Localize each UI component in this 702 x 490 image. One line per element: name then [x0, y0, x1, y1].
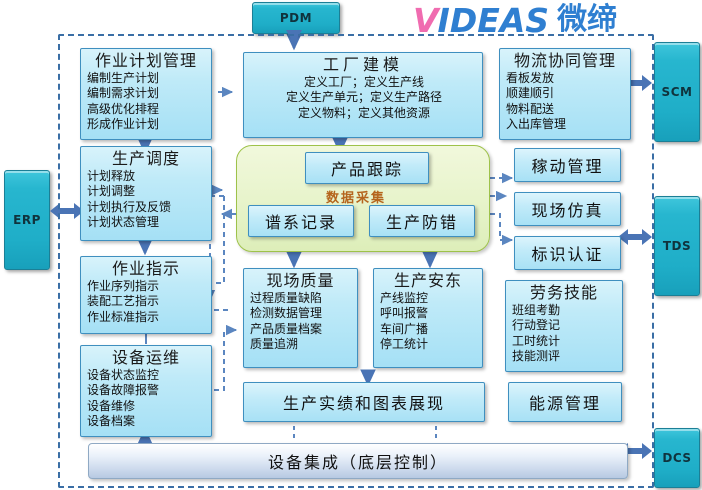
- module-site-quality-title: 现场质量: [248, 271, 353, 291]
- external-system-dcs-label: DCS: [662, 451, 691, 465]
- list-item: 看板发放: [506, 71, 626, 86]
- module-labor-skill-title: 劳务技能: [510, 283, 618, 303]
- module-work-instruction-items: 作业序列指示 装配工艺指示 作业标准指示: [85, 279, 207, 325]
- list-item: 计划释放: [87, 169, 207, 184]
- module-andon-title: 生产安东: [378, 271, 478, 291]
- module-utilization-management[interactable]: 稼动管理: [514, 148, 621, 182]
- equipment-integration-bar[interactable]: 设备集成（底层控制）: [88, 443, 628, 479]
- module-site-quality-items: 过程质量缺陷 检测数据管理 产品质量档案 质量追溯: [248, 291, 353, 352]
- external-system-dcs[interactable]: DCS: [654, 428, 700, 488]
- list-item: 车间广播: [380, 322, 478, 337]
- module-plan-management-items: 编制生产计划 编制需求计划 高级优化排程 形成作业计划: [85, 71, 207, 132]
- list-item: 作业序列指示: [87, 279, 207, 294]
- logo-chinese-name: 微缔: [557, 5, 617, 35]
- module-error-proofing[interactable]: 生产防错: [369, 205, 475, 237]
- module-performance-charts[interactable]: 生产实绩和图表展现: [243, 382, 485, 422]
- external-system-scm[interactable]: SCM: [654, 42, 700, 142]
- module-utilization-management-label: 稼动管理: [531, 153, 603, 177]
- module-production-scheduling-title: 生产调度: [85, 149, 207, 169]
- module-factory-modeling-title: 工厂建模: [248, 55, 478, 75]
- equipment-integration-label: 设备集成（底层控制）: [268, 449, 448, 473]
- list-item: 物料配送: [506, 102, 626, 117]
- external-system-tds-label: TDS: [663, 239, 691, 253]
- module-equipment-maintenance[interactable]: 设备运维 设备状态监控 设备故障报警 设备维修 设备档案: [80, 345, 212, 437]
- module-work-instruction-title: 作业指示: [85, 259, 207, 279]
- list-item: 编制需求计划: [87, 86, 207, 101]
- module-genealogy-record-label: 谱系记录: [265, 209, 337, 233]
- module-energy-management-label: 能源管理: [529, 390, 601, 414]
- list-item: 产品质量档案: [250, 322, 353, 337]
- module-logistics-collaboration-items: 看板发放 顺建顺引 物料配送 入出库管理: [504, 71, 626, 132]
- module-work-instruction[interactable]: 作业指示 作业序列指示 装配工艺指示 作业标准指示: [80, 256, 212, 334]
- module-equipment-maintenance-title: 设备运维: [85, 348, 207, 368]
- external-system-tds[interactable]: TDS: [654, 196, 700, 296]
- module-identification-authentication-label: 标识认证: [531, 241, 603, 265]
- list-item: 设备故障报警: [87, 383, 207, 398]
- list-item: 定义工厂；定义生产线: [250, 75, 478, 90]
- list-item: 高级优化排程: [87, 102, 207, 117]
- diagram-canvas: V IDEAS 微缔 PDM ERP SCM TDS DCS: [0, 0, 702, 490]
- module-andon[interactable]: 生产安东 产线监控 呼叫报警 车间广播 停工统计: [373, 268, 483, 368]
- list-item: 产线监控: [380, 291, 478, 306]
- list-item: 过程质量缺陷: [250, 291, 353, 306]
- list-item: 定义生产单元；定义生产路径: [250, 90, 478, 105]
- list-item: 作业标准指示: [87, 310, 207, 325]
- module-labor-skill-items: 班组考勤 行动登记 工时统计 技能测评: [510, 303, 618, 364]
- module-performance-charts-label: 生产实绩和图表展现: [283, 390, 445, 414]
- module-logistics-collaboration-title: 物流协同管理: [504, 51, 626, 71]
- logo-v-mark: V: [413, 4, 438, 37]
- list-item: 计划状态管理: [87, 215, 207, 230]
- data-collection-label: 数据采集: [326, 187, 386, 206]
- module-product-tracking[interactable]: 产品跟踪: [305, 152, 429, 184]
- module-andon-items: 产线监控 呼叫报警 车间广播 停工统计: [378, 291, 478, 352]
- list-item: 定义物料；定义其他资源: [250, 106, 478, 121]
- list-item: 计划调整: [87, 184, 207, 199]
- list-item: 呼叫报警: [380, 306, 478, 321]
- external-system-erp[interactable]: ERP: [4, 170, 50, 270]
- list-item: 设备状态监控: [87, 368, 207, 383]
- module-site-simulation[interactable]: 现场仿真: [514, 192, 621, 226]
- list-item: 质量追溯: [250, 337, 353, 352]
- external-system-pdm-label: PDM: [280, 11, 312, 25]
- brand-logo: V IDEAS 微缔: [413, 2, 693, 38]
- module-labor-skill[interactable]: 劳务技能 班组考勤 行动登记 工时统计 技能测评: [505, 280, 623, 372]
- external-system-pdm[interactable]: PDM: [252, 2, 340, 34]
- module-site-quality[interactable]: 现场质量 过程质量缺陷 检测数据管理 产品质量档案 质量追溯: [243, 268, 358, 368]
- list-item: 顺建顺引: [506, 86, 626, 101]
- module-identification-authentication[interactable]: 标识认证: [514, 236, 621, 270]
- list-item: 设备维修: [87, 399, 207, 414]
- module-production-scheduling[interactable]: 生产调度 计划释放 计划调整 计划执行及反馈 计划状态管理: [80, 146, 212, 241]
- list-item: 行动登记: [512, 318, 618, 333]
- external-system-erp-label: ERP: [13, 213, 41, 227]
- module-plan-management-title: 作业计划管理: [85, 51, 207, 71]
- module-plan-management[interactable]: 作业计划管理 编制生产计划 编制需求计划 高级优化排程 形成作业计划: [80, 48, 212, 140]
- list-item: 检测数据管理: [250, 306, 353, 321]
- list-item: 设备档案: [87, 414, 207, 429]
- list-item: 技能测评: [512, 349, 618, 364]
- module-product-tracking-label: 产品跟踪: [331, 156, 403, 180]
- list-item: 计划执行及反馈: [87, 200, 207, 215]
- list-item: 停工统计: [380, 337, 478, 352]
- list-item: 入出库管理: [506, 117, 626, 132]
- module-factory-modeling[interactable]: 工厂建模 定义工厂；定义生产线 定义生产单元；定义生产路径 定义物料；定义其他资…: [243, 52, 483, 138]
- module-equipment-maintenance-items: 设备状态监控 设备故障报警 设备维修 设备档案: [85, 368, 207, 429]
- module-site-simulation-label: 现场仿真: [531, 197, 603, 221]
- list-item: 形成作业计划: [87, 117, 207, 132]
- list-item: 编制生产计划: [87, 71, 207, 86]
- logo-wordmark: IDEAS: [438, 4, 550, 37]
- module-error-proofing-label: 生产防错: [386, 209, 458, 233]
- module-energy-management[interactable]: 能源管理: [508, 382, 622, 422]
- list-item: 工时统计: [512, 334, 618, 349]
- module-genealogy-record[interactable]: 谱系记录: [248, 205, 354, 237]
- module-production-scheduling-items: 计划释放 计划调整 计划执行及反馈 计划状态管理: [85, 169, 207, 230]
- list-item: 班组考勤: [512, 303, 618, 318]
- module-logistics-collaboration[interactable]: 物流协同管理 看板发放 顺建顺引 物料配送 入出库管理: [499, 48, 631, 140]
- list-item: 装配工艺指示: [87, 294, 207, 309]
- external-system-scm-label: SCM: [662, 85, 693, 99]
- module-factory-modeling-items: 定义工厂；定义生产线 定义生产单元；定义生产路径 定义物料；定义其他资源: [248, 75, 478, 121]
